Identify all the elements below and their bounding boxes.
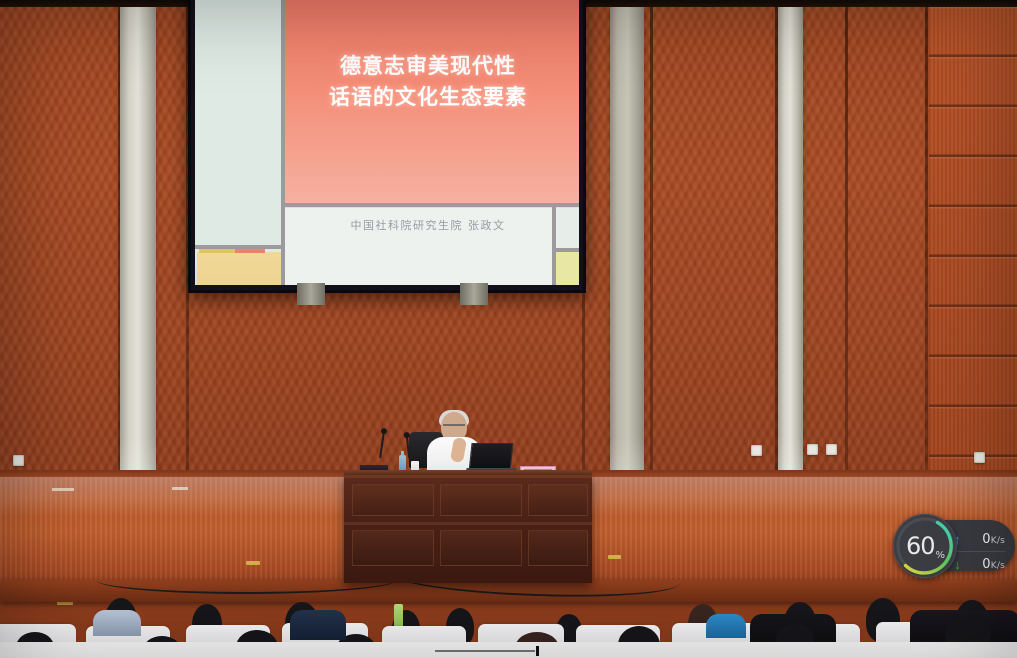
wall-panel-seam <box>845 7 848 492</box>
wall-outlet-icon <box>13 455 24 466</box>
desk-panel <box>440 530 522 566</box>
slide-block-right-top <box>556 208 579 248</box>
wall-pilaster <box>778 7 803 477</box>
desk-panel <box>528 484 588 516</box>
floor-marker <box>172 487 188 490</box>
slide-title-line-2: 话语的文化生态要素 <box>303 82 553 113</box>
slide-title-line-1: 德意志审美现代性 <box>303 51 553 82</box>
wall-pilaster <box>610 7 644 477</box>
desk-panel <box>440 484 522 516</box>
slide-grid-line <box>281 203 579 207</box>
wall-outlet-icon <box>751 445 762 456</box>
slide-grid-line <box>281 0 285 285</box>
gauge-percent-sign: % <box>936 550 945 561</box>
slide-block-left <box>195 0 281 267</box>
slide-grid-line <box>195 245 283 249</box>
wall-pilaster <box>120 7 156 477</box>
desk-trim <box>344 522 592 525</box>
slide-subtitle: 中国社科院研究生院 张政文 <box>303 217 553 233</box>
floor-marker <box>52 488 74 491</box>
right-plank-wall <box>929 7 1017 477</box>
netspeed-download-row: ↓ 0K/s <box>951 552 1005 576</box>
wall-outlet-icon <box>974 452 985 463</box>
slide-block-yellow-bottom-left <box>197 252 281 285</box>
screen-mount-bracket <box>460 283 488 305</box>
gauge-value-text: 60% <box>893 514 957 578</box>
audience-person-shirt <box>290 610 346 640</box>
desk-panel <box>352 484 434 516</box>
slide-title: 德意志审美现代性 话语的文化生态要素 <box>303 51 553 113</box>
slide-grid-line <box>552 248 579 252</box>
projection-screen-surface: 德意志审美现代性 话语的文化生态要素 中国社科院研究生院 张政文 <box>195 0 579 285</box>
audience-person-shirt <box>93 610 141 636</box>
slide-grid-line <box>552 203 556 285</box>
audience-area <box>0 596 1017 658</box>
upload-rate-value: 0K/s <box>964 532 1005 547</box>
wall-outlet-icon <box>826 444 837 455</box>
wall-outlet-icon <box>807 444 818 455</box>
screenshot-root: 德意志审美现代性 话语的文化生态要素 中国社科院研究生院 张政文 <box>0 0 1017 658</box>
netspeed-usage-gauge[interactable]: 60% <box>893 514 957 578</box>
upload-rate-unit: K/s <box>991 536 1005 546</box>
netspeed-upload-row: ↑ 0K/s <box>951 527 1005 552</box>
download-rate-unit: K/s <box>991 561 1005 571</box>
audience-person-shirt <box>706 614 746 638</box>
screen-mount-bracket <box>297 283 325 305</box>
glasses-icon <box>443 424 465 431</box>
download-rate-value: 0K/s <box>964 557 1005 572</box>
slide-block-right-yellow <box>556 252 579 285</box>
floor-tape-marker <box>246 561 260 565</box>
wall-panel-seam <box>650 7 653 492</box>
desk-panel <box>528 530 588 566</box>
bottom-bar-divider <box>435 650 535 652</box>
desk-panel <box>352 530 434 566</box>
netspeed-widget[interactable]: ↑ 0K/s ↓ 0K/s 60% <box>893 514 1015 578</box>
presentation-slide: 德意志审美现代性 话语的文化生态要素 中国社科院研究生院 张政文 <box>195 0 579 285</box>
floor-tape-marker <box>608 555 621 559</box>
projection-screen: 德意志审美现代性 话语的文化生态要素 中国社科院研究生院 张政文 <box>188 0 586 293</box>
wall-panel-seam <box>925 7 928 492</box>
